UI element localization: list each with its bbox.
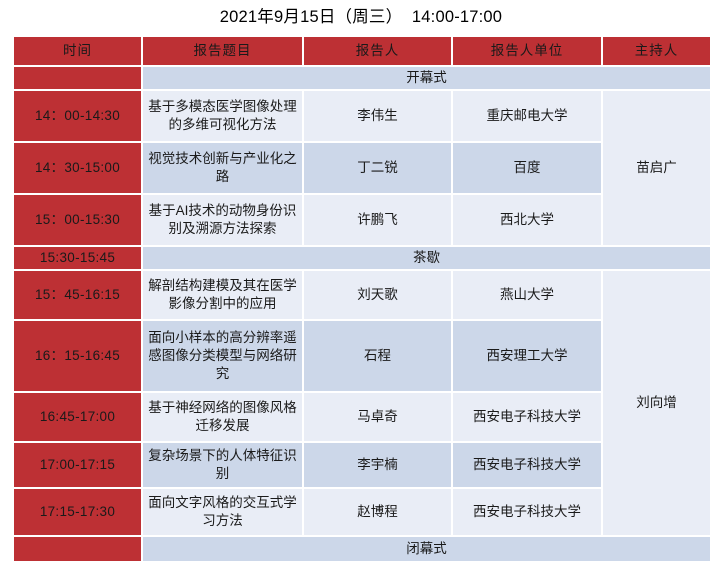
cell-topic: 视觉技术创新与产业化之路 [143, 143, 302, 193]
cell-speaker: 李宇楠 [304, 443, 451, 487]
cell-affiliation: 百度 [453, 143, 601, 193]
cell-affiliation: 燕山大学 [453, 271, 601, 319]
cell-topic: 基于多模态医学图像处理的多维可视化方法 [143, 91, 302, 141]
column-header-host: 主持人 [603, 37, 710, 65]
cell-time: 17:15-17:30 [14, 489, 141, 535]
cell-speaker: 刘天歌 [304, 271, 451, 319]
cell-time-closing [14, 537, 141, 561]
cell-host: 刘向增 [603, 271, 710, 535]
cell-time: 14：30-15:00 [14, 143, 141, 193]
table-row-opening: 开幕式 [14, 67, 710, 89]
column-header-topic: 报告题目 [143, 37, 302, 65]
table-row: 14：00-14:30 基于多模态医学图像处理的多维可视化方法 李伟生 重庆邮电… [14, 91, 710, 141]
cell-time: 16:45-17:00 [14, 393, 141, 441]
cell-affiliation: 西安理工大学 [453, 321, 601, 391]
cell-topic: 基于神经网络的图像风格迁移发展 [143, 393, 302, 441]
cell-affiliation: 重庆邮电大学 [453, 91, 601, 141]
cell-topic: 面向文字风格的交互式学习方法 [143, 489, 302, 535]
cell-speaker: 马卓奇 [304, 393, 451, 441]
table-row: 15：45-16:15 解剖结构建模及其在医学影像分割中的应用 刘天歌 燕山大学… [14, 271, 710, 319]
cell-section-tea: 茶歇 [143, 247, 710, 269]
cell-time-opening [14, 67, 141, 89]
column-header-affiliation: 报告人单位 [453, 37, 601, 65]
cell-speaker: 李伟生 [304, 91, 451, 141]
column-header-speaker: 报告人 [304, 37, 451, 65]
cell-time: 16：15-16:45 [14, 321, 141, 391]
table-row-closing: 闭幕式 [14, 537, 710, 561]
cell-time: 15：00-15:30 [14, 195, 141, 245]
schedule-table: 时间 报告题目 报告人 报告人单位 主持人 开幕式 14：00-14:30 基于… [12, 35, 712, 563]
cell-host: 苗启广 [603, 91, 710, 245]
cell-affiliation: 西安电子科技大学 [453, 489, 601, 535]
cell-section-opening: 开幕式 [143, 67, 710, 89]
cell-topic: 复杂场景下的人体特征识别 [143, 443, 302, 487]
schedule-table-wrapper: 时间 报告题目 报告人 报告人单位 主持人 开幕式 14：00-14:30 基于… [12, 35, 710, 563]
cell-section-closing: 闭幕式 [143, 537, 710, 561]
page-title: 2021年9月15日（周三） 14:00-17:00 [0, 0, 722, 26]
cell-topic: 面向小样本的高分辨率遥感图像分类模型与网络研究 [143, 321, 302, 391]
cell-speaker: 赵博程 [304, 489, 451, 535]
cell-speaker: 丁二锐 [304, 143, 451, 193]
table-header-row: 时间 报告题目 报告人 报告人单位 主持人 [14, 37, 710, 65]
cell-topic: 基于AI技术的动物身份识别及溯源方法探索 [143, 195, 302, 245]
cell-time: 15：45-16:15 [14, 271, 141, 319]
table-row-tea-break: 15:30-15:45 茶歇 [14, 247, 710, 269]
cell-time-tea: 15:30-15:45 [14, 247, 141, 269]
column-header-time: 时间 [14, 37, 141, 65]
cell-affiliation: 西安电子科技大学 [453, 393, 601, 441]
cell-affiliation: 西安电子科技大学 [453, 443, 601, 487]
cell-speaker: 许鹏飞 [304, 195, 451, 245]
cell-time: 17:00-17:15 [14, 443, 141, 487]
cell-topic: 解剖结构建模及其在医学影像分割中的应用 [143, 271, 302, 319]
cell-affiliation: 西北大学 [453, 195, 601, 245]
cell-time: 14：00-14:30 [14, 91, 141, 141]
cell-speaker: 石程 [304, 321, 451, 391]
schedule-page: 2021年9月15日（周三） 14:00-17:00 时间 报告题目 报告人 报… [0, 0, 722, 575]
